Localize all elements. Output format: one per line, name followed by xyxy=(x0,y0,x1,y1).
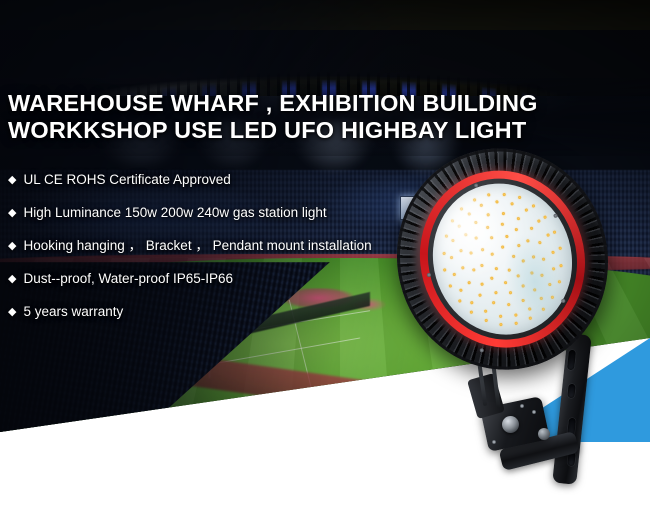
bracket-bolt xyxy=(492,440,496,444)
list-item-label: High Luminance 150w 200w 240w gas statio… xyxy=(23,205,326,221)
list-item: ◆ 5 years warranty xyxy=(8,304,428,320)
list-item: ◆ Dust--proof, Water-proof IP65-IP66 xyxy=(8,271,428,287)
list-item-label: Dust--proof, Water-proof IP65-IP66 xyxy=(23,271,233,287)
feature-list: ◆ UL CE ROHS Certificate Approved ◆ High… xyxy=(8,172,428,337)
ufo-highbay-light-product xyxy=(398,148,650,448)
list-item-label: UL CE ROHS Certificate Approved xyxy=(23,172,230,188)
adjust-knob xyxy=(502,416,519,433)
adjust-screw xyxy=(538,428,550,440)
list-item-label: 5 years warranty xyxy=(23,304,123,320)
diamond-bullet-icon: ◆ xyxy=(8,238,16,254)
headline: WAREHOUSE WHARF , EXHIBITION BUILDING WO… xyxy=(8,90,568,144)
diamond-bullet-icon: ◆ xyxy=(8,271,16,287)
list-item: ◆ UL CE ROHS Certificate Approved xyxy=(8,172,428,188)
list-item-label: Hooking hanging ， Bracket ， Pendant moun… xyxy=(23,238,371,254)
bracket-bolt xyxy=(532,410,536,414)
diamond-bullet-icon: ◆ xyxy=(8,172,16,188)
headline-line-1: WAREHOUSE WHARF , EXHIBITION BUILDING xyxy=(8,90,538,116)
diamond-bullet-icon: ◆ xyxy=(8,205,16,221)
list-item: ◆ High Luminance 150w 200w 240w gas stat… xyxy=(8,205,428,221)
list-item: ◆ Hooking hanging ， Bracket ， Pendant mo… xyxy=(8,238,428,254)
diamond-bullet-icon: ◆ xyxy=(8,304,16,320)
bracket-bolt xyxy=(520,404,524,408)
headline-line-2: WORKKSHOP USE LED UFO HIGHBAY LIGHT xyxy=(8,117,568,144)
product-banner: WAREHOUSE WHARF , EXHIBITION BUILDING WO… xyxy=(0,0,650,506)
